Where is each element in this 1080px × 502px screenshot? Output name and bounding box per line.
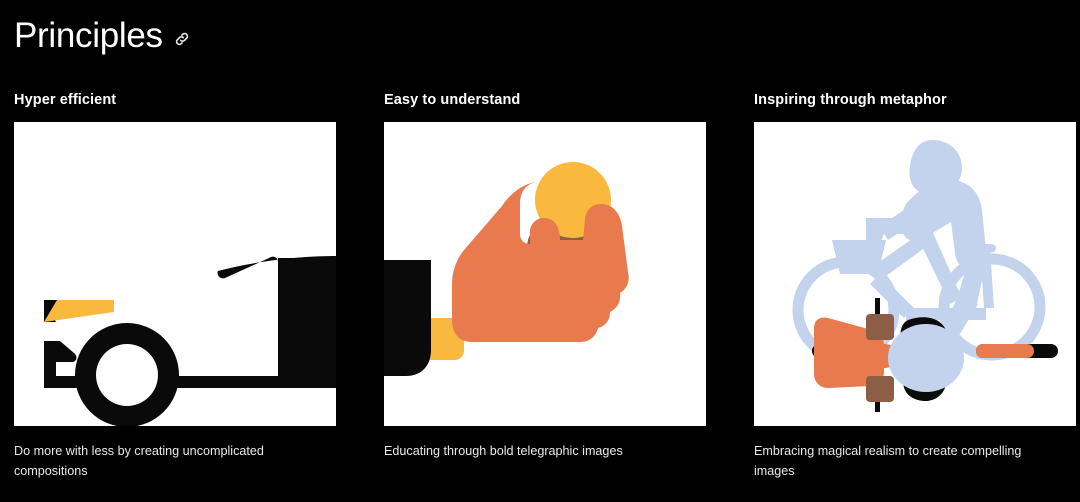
card-caption: Embracing magical realism to create comp… [754, 442, 1054, 481]
link-icon[interactable] [173, 30, 191, 48]
page-header: Principles [14, 18, 191, 53]
principle-card-easy-to-understand[interactable]: Easy to understand Educati [384, 92, 706, 494]
cyclist-motorcycle-illustration [754, 122, 1076, 426]
card-heading: Easy to understand [384, 92, 706, 109]
hand-holding-sun-illustration [384, 122, 706, 426]
principle-card-hyper-efficient[interactable]: Hyper efficient [14, 92, 336, 494]
page-title: Principles [14, 18, 163, 53]
principle-card-inspiring-through-metaphor[interactable]: Inspiring through metaphor [754, 92, 1076, 494]
card-heading: Hyper efficient [14, 92, 336, 109]
card-caption: Educating through bold telegraphic image… [384, 442, 684, 462]
card-heading: Inspiring through metaphor [754, 92, 1076, 109]
principles-grid: Hyper efficient [14, 92, 1066, 494]
principles-page: Principles Hyper efficient [0, 0, 1080, 502]
race-car-illustration [14, 122, 336, 426]
card-caption: Do more with less by creating uncomplica… [14, 442, 314, 481]
